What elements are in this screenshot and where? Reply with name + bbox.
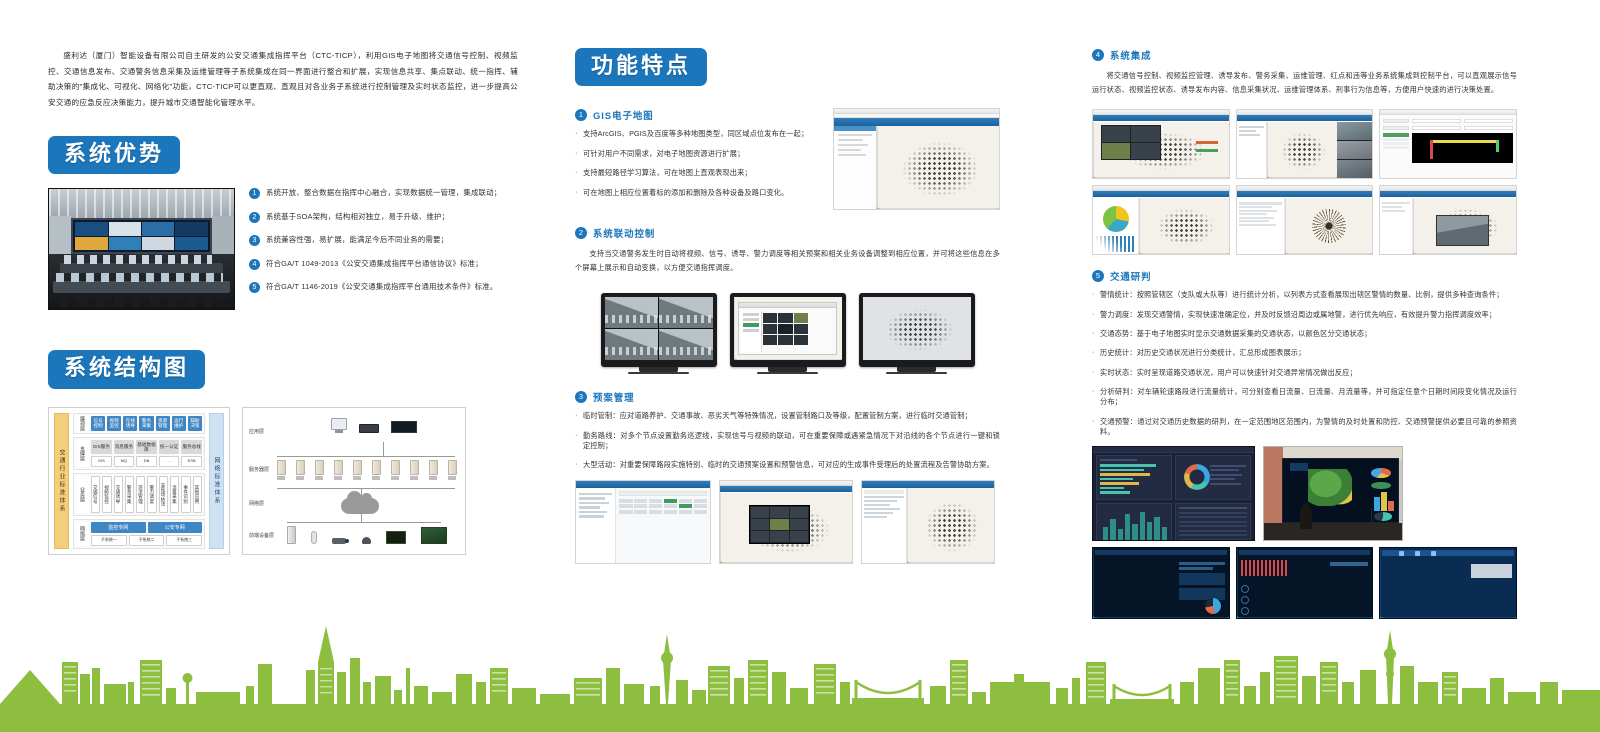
section-heading-system-advantage: 系统优势 [48, 136, 180, 174]
camera-tile [659, 297, 713, 328]
sidebar-row [838, 139, 863, 141]
list-item: 历史统计：对历史交通状况进行分类统计，汇总形成图表展示； [1092, 348, 1517, 358]
feature-header-analysis: 5 交通研判 [1092, 269, 1517, 283]
list-item: 支持最短路径学习算法，可在地图上直观表现出来； [575, 168, 819, 178]
donut-chart [1184, 464, 1210, 490]
dark-traffic-map-2 [1236, 547, 1374, 619]
section-heading-system-structure: 系统结构图 [48, 350, 205, 388]
dashboard-card-vbar [1096, 503, 1172, 542]
app-navbar [1237, 115, 1373, 121]
topology-node-server [277, 460, 286, 475]
plan-dispatch-screenshot [861, 480, 995, 564]
architecture-cell: 子系统一 [91, 535, 127, 546]
list-item-text: 系统开放、整合数据在指挥中心融合，实现数据统一管理，集成联动； [266, 188, 501, 198]
cctv-quad-monitor [601, 293, 717, 374]
map-marker-cluster [863, 297, 971, 360]
app-navbar [1093, 115, 1229, 121]
realtime-camera-map-screenshot [1379, 185, 1517, 255]
architecture-cell: 交通诱导 [114, 476, 123, 513]
topology-node-detector [311, 531, 317, 544]
architecture-left-band: 交通行业标准体系 [54, 413, 69, 549]
camera-tile [659, 329, 713, 360]
architecture-row: 展现层 信号控制 视频监控 在线诱导 警务采集 资源管理 运行维护 辅助决策 [73, 413, 205, 434]
topology-node-server [448, 460, 457, 475]
bullet-number: 4 [249, 259, 260, 270]
app-navbar [576, 481, 710, 488]
sidebar-row [838, 144, 868, 146]
architecture-cell: 视频监控 [102, 476, 111, 513]
list-item-text: 系统兼容性强，易扩展，能满足今后不同业务的需要； [266, 235, 448, 245]
architecture-row: 网络层 监控专网 公安专网 子系统一 子系统二 子系统三 [73, 519, 205, 549]
topology-node-dome-camera [362, 537, 371, 544]
topology-node-video-wall [391, 421, 417, 433]
list-item-text: 系统基于SOA架构，结构相对独立，易于升级、维护； [266, 212, 449, 222]
architecture-diagram: 交通行业标准体系 展现层 信号控制 视频监控 在线诱导 警务采集 资源管理 运行… [48, 407, 230, 555]
window-titlebar [1380, 110, 1516, 115]
system-advantage-list: 1 系统开放、整合数据在指挥中心融合，实现数据统一管理，集成联动； 2 系统基于… [249, 188, 501, 310]
signal-control-map-screenshot [1092, 109, 1230, 179]
topology-node-signal-cabinet [287, 526, 296, 544]
architecture-cell: 运行维护 [172, 416, 186, 431]
statistics-pie-chart-screenshot [1092, 185, 1230, 255]
list-item: 交通预警：通过对交通历史数据的研判，在一定范围地区范围内，为警情的及时处置和防控… [1092, 417, 1517, 437]
list-item: 3 系统兼容性强，易扩展，能满足今后不同业务的需要； [249, 235, 501, 246]
list-item: 2 系统基于SOA架构，结构相对独立，易于升级、维护； [249, 212, 501, 223]
list-item: 大型活动：对重要保障路段实施特别、临时的交通预案设置和预警信息，可对应的生成事件… [575, 460, 1000, 470]
list-item: 1 系统开放、整合数据在指挥中心融合，实现数据统一管理，集成联动； [249, 188, 501, 199]
monitor-base [886, 372, 946, 374]
control-room-photo [48, 188, 235, 310]
feature-paragraph: 将交通信号控制、视频监控管理、诱导发布、警务采集、运维管理、红点和违等业务系统集… [1092, 69, 1517, 97]
integration-screenshot-grid [1092, 109, 1517, 255]
camera-tile [605, 329, 659, 360]
architecture-right-band: 网络标准体系 [209, 413, 224, 549]
province-map-graphic [1308, 469, 1352, 506]
architecture-row: 业务层 交通信号 视频监控 交通诱导 警务采集 违法管理 警力调度 非现场执法 … [73, 473, 205, 516]
feature-number: 4 [1092, 49, 1104, 61]
plan-management-list-screenshot [575, 480, 711, 564]
list-item-text: 符合GA/T 1049-2013《公安交通集成指挥平台通信协议》标准； [266, 259, 483, 269]
topology-node-vms-board [386, 531, 406, 544]
architecture-cell: 违法管理 [136, 476, 145, 513]
architecture-cell: 视频监控 [107, 416, 121, 431]
map-marker-cluster [907, 488, 994, 563]
camera-tile [605, 297, 659, 328]
architecture-cell: 监控专网 [91, 522, 146, 533]
right-column: 4 系统集成 将交通信号控制、视频监控管理、诱导发布、警务采集、运维管理、红点和… [1092, 48, 1517, 619]
sidebar-row [838, 149, 861, 151]
topology-layer-label: 前端设备层 [249, 532, 274, 539]
gis-map-canvas [877, 126, 999, 209]
architecture-row-label: 网络层 [76, 522, 89, 546]
app-navbar [834, 118, 999, 126]
parameter-config-dialog-screenshot [1379, 109, 1517, 179]
architecture-subcell: DB [136, 456, 157, 467]
feature-title: 预案管理 [593, 390, 635, 404]
feature-bullets-gis: 支持ArcGIS、PGIS及百度等多种地图类型，同区域点位发布在一起； 可针对用… [575, 129, 819, 197]
sidebar-row [838, 154, 866, 156]
architecture-cell: 交通信号 [91, 476, 100, 513]
left-column: 盛利达（厦门）智能设备有限公司自主研发的公安交通集成指挥平台（CTC-TICP）… [48, 48, 518, 555]
architecture-cell: 信号控制 [91, 416, 105, 431]
map-marker-cluster [877, 126, 999, 209]
topology-node-network-cloud [341, 498, 379, 514]
dashboard-card-table [1175, 503, 1251, 542]
list-item: 4 符合GA/T 1049-2013《公安交通集成指挥平台通信协议》标准； [249, 259, 501, 270]
app-navbar [720, 486, 852, 492]
feature-bullets-analysis: 警情统计：按照管辖区（支队或大队等）进行统计分析，以列表方式查看展现出辖区警情的… [1092, 290, 1517, 436]
architecture-cell: 基础数据库 [136, 440, 157, 455]
architecture-cell: 统一认证 [159, 440, 180, 455]
architecture-cell: 非现场执法 [159, 476, 168, 513]
app-body [834, 126, 999, 209]
architecture-cell: 警务采集 [139, 416, 153, 431]
list-item: 可在地图上相应位置着标的添加和删除及各种设备及路口变化。 [575, 188, 819, 198]
analytics-dashboard-screenshot [1092, 446, 1255, 541]
software-control-monitor [730, 293, 846, 374]
pie-chart [1103, 206, 1129, 232]
list-item: 5 符合GA/T 1146-2019《公安交通集成指挥平台通用技术条件》标准。 [249, 282, 501, 293]
list-item: 勤务路线：对多个节点设置勤务巡逻线，实现信号与视频的联动，可在重要保障或遇紧急情… [575, 431, 1000, 451]
architecture-cell: 在线诱导 [123, 416, 137, 431]
list-item: 分析研判：对车辆轮速路段进行流量统计，可分别查看日流量、日流量、月流量等，并可指… [1092, 387, 1517, 407]
feature-paragraph: 支持当交通警务发生时自动将视频、信号、诱导、警力调度等相关预案和相关业务设备调整… [575, 247, 1000, 275]
architecture-cell: 服务总线 [181, 440, 202, 455]
feature-number: 1 [575, 109, 587, 121]
architecture-cell: 资源管理 [156, 416, 170, 431]
bullet-number: 3 [249, 235, 260, 246]
feature-number: 2 [575, 227, 587, 239]
topology-layer-label: 网络层 [249, 500, 264, 507]
architecture-row: 支撑层 GIS服务 消息服务 基础数据库 统一认证 服务总线 GIS [73, 437, 205, 470]
gis-map-application-screenshot [833, 108, 1000, 210]
bullet-number: 2 [249, 212, 260, 223]
feature-title: 系统联动控制 [593, 226, 655, 240]
device-topology-screenshot [1236, 185, 1374, 255]
architecture-cell: 其他应用 [193, 476, 202, 513]
architecture-cell: 事件识别 [181, 476, 190, 513]
list-item: 警情统计：按照管辖区（支队或大队等）进行统计分析，以列表方式查看展现出辖区警情的… [1092, 290, 1517, 300]
architecture-cell: 辅助决策 [188, 416, 202, 431]
topology-node-operator-terminal [331, 418, 347, 433]
gis-map-monitor [859, 293, 975, 374]
topology-layer-label: 应用层 [249, 428, 264, 435]
topology-node-server [353, 460, 362, 475]
cctv-quad-view [605, 297, 713, 360]
tripod [1371, 508, 1372, 528]
architecture-cell: 警务采集 [125, 476, 134, 513]
dark-traffic-map-3 [1379, 547, 1517, 619]
person-silhouette [1300, 508, 1312, 528]
topology-node-server [315, 460, 324, 475]
bullet-number: 1 [249, 188, 260, 199]
feature-title: GIS电子地图 [593, 108, 654, 122]
architecture-subcell: GIS [91, 456, 112, 467]
architecture-subcell: MQ [114, 456, 135, 467]
list-item: 实时状态：实时呈现道路交通状况，用户可以快速针对交通异常情况做出反应； [1092, 368, 1517, 378]
city-skyline-footer [0, 612, 1600, 732]
topology-node-server [372, 460, 381, 475]
topology-node-server [410, 460, 419, 475]
list-item: 警力调度：发现交通警情，实现快速准确定位，并及时反馈沿周边或属地警，进行优先响应… [1092, 310, 1517, 320]
topology-layer-label: 服务器层 [249, 466, 269, 473]
app-navbar [862, 481, 994, 488]
network-topology-diagram: 应用层 服务器层 网络层 前端设备层 [242, 407, 466, 555]
list-item: 支持ArcGIS、PGIS及百度等多种地图类型，同区域点位发布在一起； [575, 129, 819, 139]
architecture-cell: GIS服务 [91, 440, 112, 455]
architecture-cell: 子系统三 [166, 535, 202, 546]
architecture-row-label: 支撑层 [76, 440, 89, 467]
feature-title: 系统集成 [1110, 48, 1152, 62]
plan-detail-map-screenshot [719, 480, 853, 564]
architecture-row-label: 展现层 [76, 416, 89, 431]
architecture-cell: 警力调度 [147, 476, 156, 513]
topology-node-server [334, 460, 343, 475]
feature-header-linkage: 2 系统联动控制 [575, 226, 1000, 240]
command-center-big-screen-photo [1263, 446, 1403, 541]
bullet-number: 5 [249, 282, 260, 293]
feature-header-plan: 3 预案管理 [575, 390, 1000, 404]
architecture-cell: 消息服务 [114, 440, 135, 455]
bar-chart [1096, 236, 1136, 252]
feature-header-gis: 1 GIS电子地图 [575, 108, 819, 122]
sidebar-row [838, 134, 872, 136]
dark-traffic-map-1 [1092, 547, 1230, 619]
monitor-screen [605, 297, 713, 360]
feature-number: 5 [1092, 270, 1104, 282]
list-item: 临时管制：应对道路养护、交通事故、恶劣天气等特殊情况，设置管制路口及等级，配置管… [575, 411, 1000, 421]
list-item: 可针对用户不同需求，对电子地图资源进行扩展； [575, 149, 819, 159]
dashboard-card-donut [1175, 455, 1251, 500]
video-surveillance-map-screenshot [1236, 109, 1374, 179]
dashboard-topbar [1093, 447, 1254, 453]
intro-paragraph: 盛利达（厦门）智能设备有限公司自主研发的公安交通集成指挥平台（CTC-TICP）… [48, 48, 518, 110]
topology-node-bullet-camera [332, 538, 346, 544]
architecture-subcell: ... [159, 456, 180, 467]
topology-node-server [391, 460, 400, 475]
app-navbar [1093, 191, 1229, 197]
app-navbar [1380, 191, 1516, 197]
section-heading-features: 功能特点 [575, 48, 707, 86]
architecture-subcell: ESB [181, 456, 202, 467]
brochure-page: 盛利达（厦门）智能设备有限公司自主研发的公安交通集成指挥平台（CTC-TICP）… [0, 0, 1600, 732]
topology-node-server [296, 460, 305, 475]
list-item-text: 符合GA/T 1146-2019《公安交通集成指挥平台通用技术条件》标准。 [266, 282, 497, 292]
app-navbar [1237, 191, 1373, 197]
middle-column: 功能特点 1 GIS电子地图 支持ArcGIS、PGIS及百度等多种地图类型，同… [575, 48, 1000, 564]
monitor-base [628, 372, 688, 374]
topology-node-server [429, 460, 438, 475]
feature-title: 交通研判 [1110, 269, 1152, 283]
monitor-screen [734, 297, 842, 360]
feature-bullets-plan: 临时管制：应对道路养护、交通事故、恶劣天气等特殊情况，设置管制路口及等级，配置管… [575, 411, 1000, 470]
dashboard-card-hbar [1096, 455, 1172, 500]
monitor-base [757, 372, 817, 374]
list-item: 交通态势：基于电子地图实时显示交通数据采集的交通状态，以颜色区分交通状态； [1092, 329, 1517, 339]
architecture-cell: 流量采集 [170, 476, 179, 513]
architecture-cell: 公安专网 [148, 522, 203, 533]
topology-node-traffic-scene [421, 527, 447, 544]
sidebar-header [834, 126, 876, 131]
architecture-cell: 子系统二 [129, 535, 165, 546]
architecture-row-label: 业务层 [76, 476, 89, 513]
app-sidebar [834, 126, 877, 209]
feature-header-integration: 4 系统集成 [1092, 48, 1517, 62]
topology-node-console [359, 424, 379, 433]
monitor-screen [863, 297, 971, 360]
feature-number: 3 [575, 391, 587, 403]
